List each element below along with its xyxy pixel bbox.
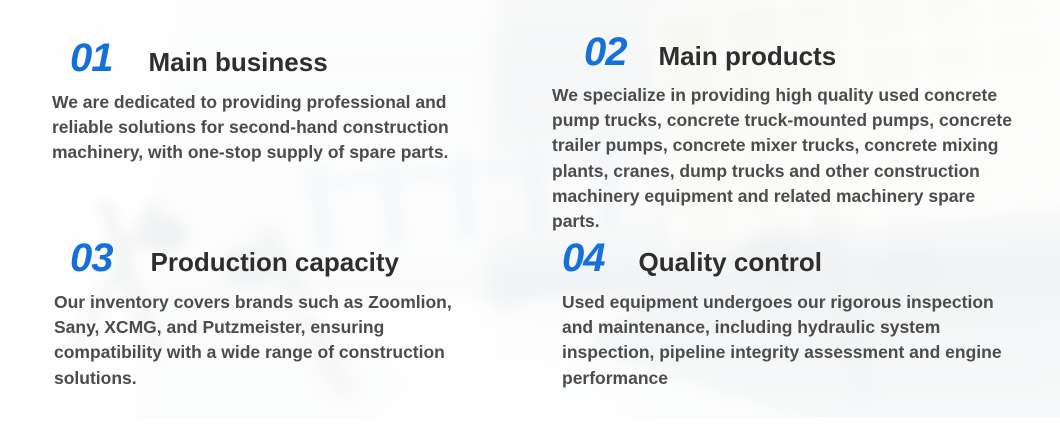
panel-number: 03 bbox=[70, 238, 113, 278]
panel-title: Production capacity bbox=[151, 249, 400, 275]
feature-panel-quality-control: 04 Quality control Used equipment underg… bbox=[552, 238, 1022, 391]
panel-number: 04 bbox=[562, 238, 605, 278]
panel-number: 02 bbox=[584, 32, 627, 72]
panel-body-text: We are dedicated to providing profession… bbox=[52, 90, 504, 166]
panel-title: Quality control bbox=[639, 249, 822, 275]
panel-number: 01 bbox=[70, 38, 113, 78]
panel-header: 02 Main products bbox=[552, 32, 1022, 72]
panel-body-text: Used equipment undergoes our rigorous in… bbox=[562, 290, 1012, 391]
company-intro-banner: 01 Main business We are dedicated to pro… bbox=[0, 0, 1060, 441]
bottom-white-band bbox=[0, 418, 1060, 441]
panel-header: 03 Production capacity bbox=[52, 238, 512, 278]
feature-panel-main-products: 02 Main products We specialize in provid… bbox=[552, 32, 1022, 234]
feature-panel-production-capacity: 03 Production capacity Our inventory cov… bbox=[52, 238, 512, 391]
feature-panel-main-business: 01 Main business We are dedicated to pro… bbox=[52, 38, 512, 166]
panel-body-text: We specialize in providing high quality … bbox=[552, 83, 1014, 234]
panel-header: 01 Main business bbox=[52, 38, 512, 78]
panel-body-text: Our inventory covers brands such as Zoom… bbox=[54, 290, 479, 391]
panel-title: Main products bbox=[659, 43, 837, 69]
feature-panel-grid: 01 Main business We are dedicated to pro… bbox=[0, 0, 1060, 441]
panel-header: 04 Quality control bbox=[552, 238, 1022, 278]
panel-title: Main business bbox=[149, 49, 328, 75]
